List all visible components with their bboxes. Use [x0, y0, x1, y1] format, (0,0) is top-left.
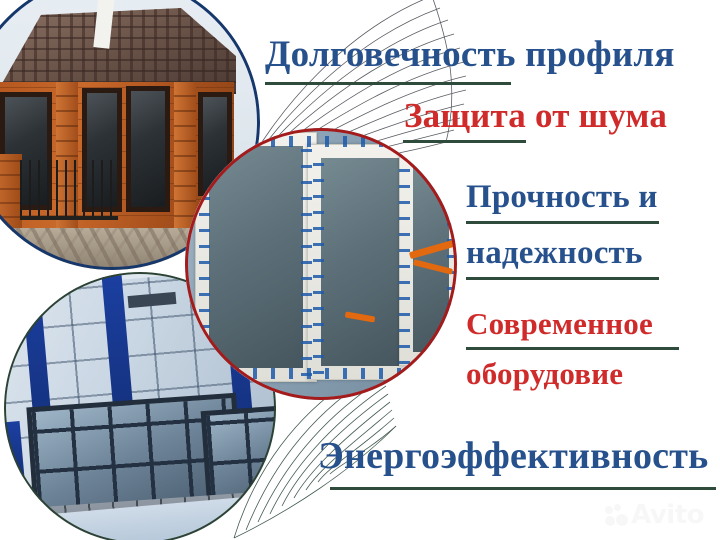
avito-watermark: Avito [605, 500, 704, 530]
headline-efficiency: Энергоэффективность [318, 437, 708, 475]
headline-strength-line1: Прочность и [466, 181, 658, 214]
headline-noise: Защита от шума [404, 98, 667, 133]
avito-wordmark: Avito [631, 500, 704, 530]
avito-dots-icon [605, 504, 627, 526]
photo-circle-veka-windows [185, 128, 457, 400]
poster-canvas: Долговечность профиля Защита от шума Про… [0, 0, 720, 540]
headline-strength-line1-rule [466, 221, 659, 224]
headline-efficiency-rule [330, 487, 716, 490]
headline-noise-rule [403, 140, 526, 143]
headline-strength-line2: надежность [466, 237, 643, 270]
headline-equipment-line1: Современное [466, 308, 653, 339]
headline-equipment-line1-rule [466, 347, 679, 350]
headline-durability-rule [265, 82, 511, 85]
headline-equipment-line2: оборудовие [466, 358, 623, 389]
veka-windows-illustration [185, 128, 457, 400]
headline-durability: Долговечность профиля [265, 36, 675, 73]
headline-strength-line2-rule [466, 277, 659, 280]
